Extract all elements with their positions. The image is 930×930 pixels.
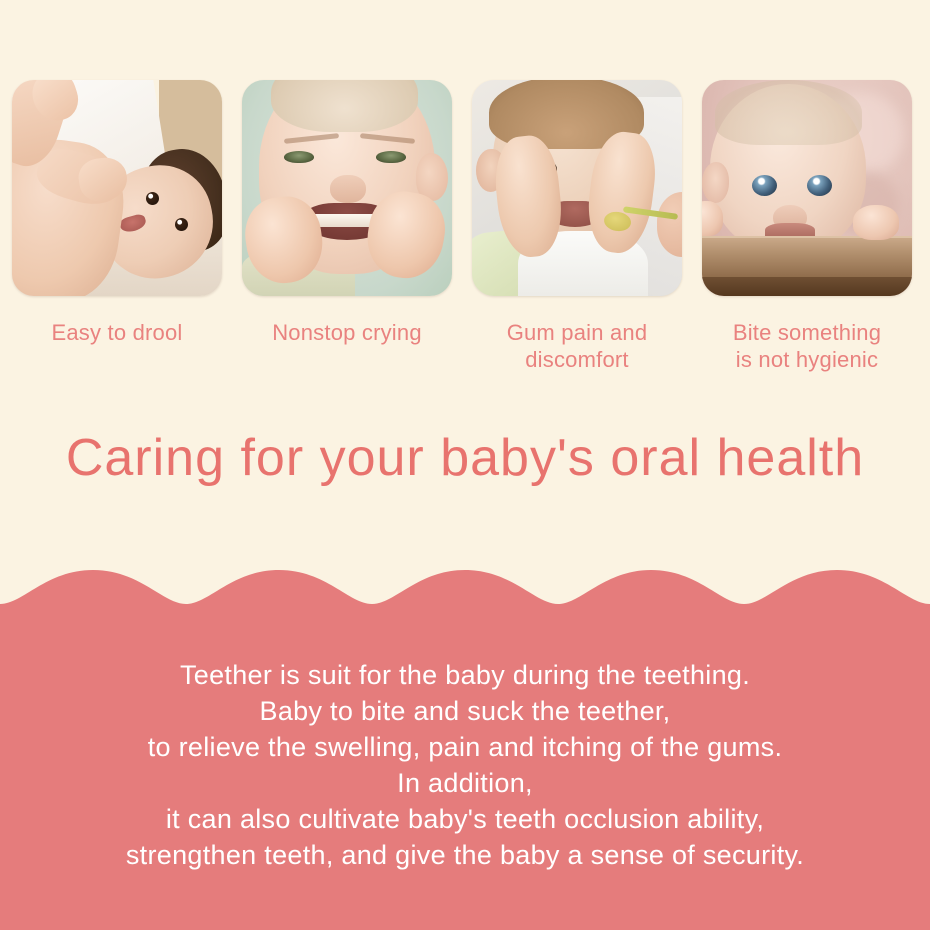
tile-gumpain[interactable] — [472, 80, 682, 296]
paragraph-line-2: Baby to bite and suck the teether, — [0, 694, 930, 730]
caption-gumpain-line1: Gum pain and — [507, 320, 648, 345]
description-paragraph: Teether is suit for the baby during the … — [0, 658, 930, 873]
caption-crying-line1: Nonstop crying — [272, 320, 422, 345]
symptom-tile-row — [12, 80, 918, 296]
caption-crying: Nonstop crying — [242, 320, 452, 374]
symptom-caption-row: Easy to drool Nonstop crying Gum pain an… — [12, 320, 918, 374]
caption-gumpain-line2: discomfort — [525, 347, 628, 372]
paragraph-line-5: it can also cultivate baby's teeth occlu… — [0, 802, 930, 838]
caption-biting: Bite something is not hygienic — [702, 320, 912, 374]
paragraph-line-3: to relieve the swelling, pain and itchin… — [0, 730, 930, 766]
paragraph-line-6: strengthen teeth, and give the baby a se… — [0, 838, 930, 874]
photo-baby-crying — [242, 80, 452, 296]
page-title: Caring for your baby's oral health — [0, 432, 930, 484]
product-infographic-page: Easy to drool Nonstop crying Gum pain an… — [0, 0, 930, 930]
paragraph-line-4: In addition, — [0, 766, 930, 802]
paragraph-line-1: Teether is suit for the baby during the … — [0, 658, 930, 694]
caption-drool-line1: Easy to drool — [51, 320, 182, 345]
photo-baby-drooling — [12, 80, 222, 296]
tile-crying[interactable] — [242, 80, 452, 296]
tile-biting[interactable] — [702, 80, 912, 296]
photo-baby-biting-rail — [702, 80, 912, 296]
tile-drool[interactable] — [12, 80, 222, 296]
caption-biting-line2: is not hygienic — [736, 347, 878, 372]
photo-baby-gum-pain — [472, 80, 682, 296]
caption-gumpain: Gum pain and discomfort — [472, 320, 682, 374]
caption-biting-line1: Bite something — [733, 320, 881, 345]
caption-drool: Easy to drool — [12, 320, 222, 374]
